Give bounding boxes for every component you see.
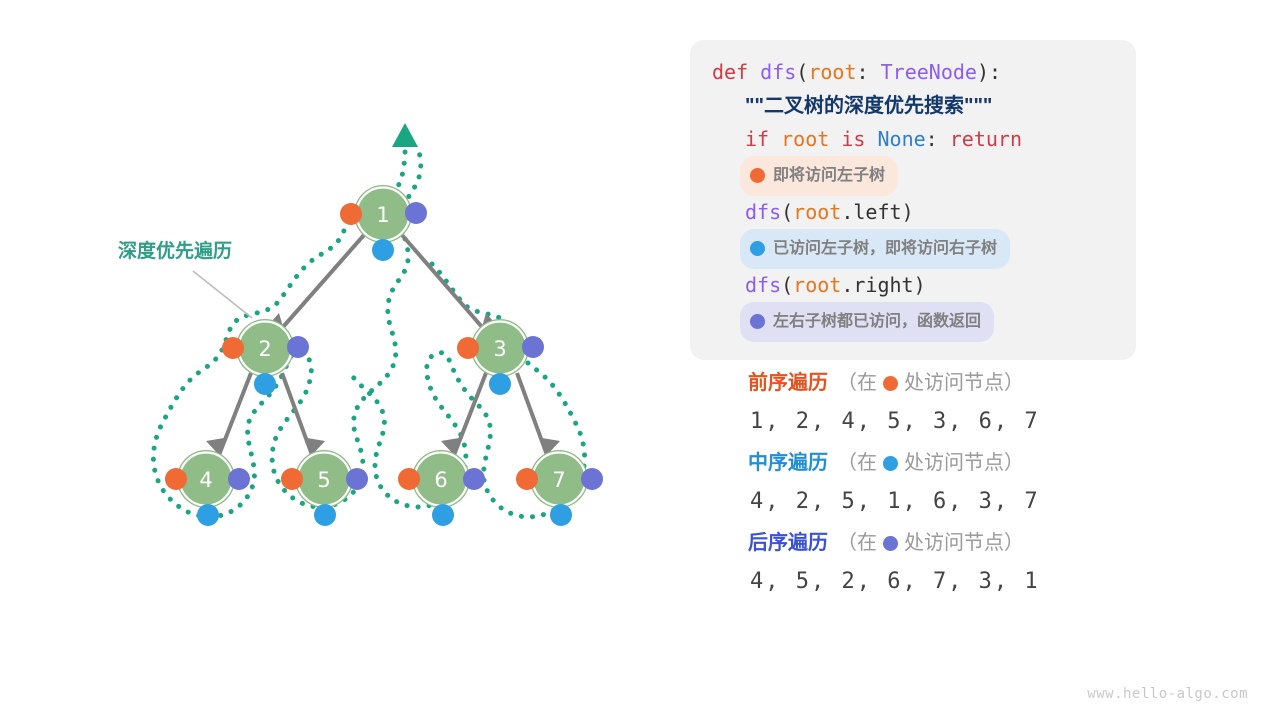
call-left-param: root: [793, 200, 841, 224]
param-root: root: [808, 60, 856, 84]
tree-node-7[interactable]: 7: [516, 450, 603, 526]
edge-1-3: [402, 235, 482, 327]
node-5-preorder-dot: [281, 468, 303, 490]
edge-3-7: [517, 373, 547, 455]
call-left-fn: dfs: [745, 200, 781, 224]
node-3-label: 3: [493, 337, 506, 361]
node-4-inorder-dot: [197, 504, 219, 526]
inorder-note: （在 处访问节点）: [837, 448, 1024, 478]
node-5-inorder-dot: [314, 504, 336, 526]
docstring-text: ""二叉树的深度优先搜索""": [745, 95, 992, 117]
dfs-annotation-label: 深度优先遍历: [118, 239, 232, 262]
inorder-note-open: （在: [837, 448, 877, 478]
node-6-postorder-dot: [463, 468, 485, 490]
guard-colon: :: [926, 127, 950, 151]
keyword-def: def: [712, 60, 748, 84]
tree-node-2[interactable]: 2: [222, 319, 309, 395]
postorder-dot-icon: [750, 314, 765, 329]
preorder-pill-label: 即将访问左子树: [773, 159, 885, 192]
preorder-dot-icon: [750, 168, 765, 183]
tree-node-3[interactable]: 3: [457, 319, 544, 395]
call-right-param: root: [793, 273, 841, 297]
guard-param-root: root: [781, 127, 829, 151]
node-5-label: 5: [317, 468, 330, 492]
preorder-marker-icon: [883, 376, 898, 391]
annotation-leader-line: [193, 271, 252, 318]
result-block-preorder: 前序遍历 （在 处访问节点） 1, 2, 4, 5, 3, 6, 7: [748, 368, 1248, 434]
code-line-call-left: dfs(root.left): [690, 196, 1136, 229]
inorder-sequence: 4, 2, 5, 1, 6, 3, 7: [750, 489, 1248, 514]
preorder-note-open: （在: [837, 368, 877, 398]
node-7-postorder-dot: [581, 468, 603, 490]
pill-row-preorder: 即将访问左子树: [690, 156, 1136, 196]
keyword-if: if: [745, 127, 769, 151]
preorder-sequence: 1, 2, 4, 5, 3, 6, 7: [750, 409, 1248, 434]
call-right-attr: .right: [841, 273, 913, 297]
right-panel: def dfs(root: TreeNode): ""二叉树的深度优先搜索"""…: [690, 0, 1250, 720]
tree-node-6[interactable]: 6: [398, 450, 485, 526]
function-name: dfs: [760, 60, 796, 84]
edge-3-6: [454, 373, 486, 455]
node-3-inorder-dot: [489, 373, 511, 395]
tree-node-4[interactable]: 4: [165, 450, 250, 526]
node-7-inorder-dot: [550, 504, 572, 526]
node-5-postorder-dot: [346, 468, 368, 490]
call-right-close: ): [914, 273, 926, 297]
postorder-note: （在 处访问节点）: [837, 528, 1024, 558]
annotation-colon: :: [857, 60, 881, 84]
postorder-sequence: 4, 5, 2, 6, 7, 3, 1: [750, 569, 1248, 594]
edge-2-4: [219, 373, 251, 455]
code-line-signature: def dfs(root: TreeNode):: [690, 56, 1136, 89]
preorder-title: 前序遍历: [748, 368, 828, 398]
node-1-preorder-dot: [340, 203, 362, 225]
inorder-heading: 中序遍历 （在 处访问节点）: [748, 448, 1248, 478]
postorder-pill: 左右子树都已访问，函数返回: [740, 302, 994, 342]
node-2-postorder-dot: [287, 336, 309, 358]
site-watermark: www.hello-algo.com: [1087, 686, 1248, 702]
tree-node-5[interactable]: 5: [281, 450, 368, 526]
code-line-call-right: dfs(root.right): [690, 269, 1136, 302]
code-line-guard: if root is None: return: [690, 123, 1136, 156]
preorder-note: （在 处访问节点）: [837, 368, 1024, 398]
call-right-fn: dfs: [745, 273, 781, 297]
node-3-postorder-dot: [522, 336, 544, 358]
node-2-preorder-dot: [222, 337, 244, 359]
node-6-inorder-dot: [432, 504, 454, 526]
code-line-docstring: ""二叉树的深度优先搜索""": [690, 89, 1136, 123]
postorder-note-close: 处访问节点）: [904, 528, 1024, 558]
node-4-preorder-dot: [165, 468, 187, 490]
inorder-dot-icon: [750, 241, 765, 256]
keyword-return: return: [950, 127, 1022, 151]
type-treenode: TreeNode: [881, 60, 977, 84]
node-1-inorder-dot: [372, 239, 394, 261]
tree-svg: 1 2 3 4: [0, 0, 660, 720]
result-block-inorder: 中序遍历 （在 处访问节点） 4, 2, 5, 1, 6, 3, 7: [748, 448, 1248, 514]
inorder-title: 中序遍历: [748, 448, 828, 478]
preorder-heading: 前序遍历 （在 处访问节点）: [748, 368, 1248, 398]
preorder-pill: 即将访问左子树: [740, 156, 898, 196]
literal-none: None: [878, 127, 926, 151]
node-6-preorder-dot: [398, 468, 420, 490]
traversal-results: 前序遍历 （在 处访问节点） 1, 2, 4, 5, 3, 6, 7 中序遍历 …: [748, 368, 1248, 608]
node-3-preorder-dot: [457, 337, 479, 359]
node-4-label: 4: [199, 468, 212, 492]
node-6-label: 6: [434, 468, 447, 492]
inorder-pill-label: 已访问左子树，即将访问右子树: [773, 232, 997, 265]
pill-row-postorder: 左右子树都已访问，函数返回: [690, 302, 1136, 342]
pill-row-inorder: 已访问左子树，即将访问右子树: [690, 229, 1136, 269]
node-1-postorder-dot: [405, 202, 427, 224]
result-block-postorder: 后序遍历 （在 处访问节点） 4, 5, 2, 6, 7, 3, 1: [748, 528, 1248, 594]
call-left-open: (: [781, 200, 793, 224]
postorder-pill-label: 左右子树都已访问，函数返回: [773, 305, 981, 338]
edge-1-2: [283, 235, 364, 327]
call-right-open: (: [781, 273, 793, 297]
node-2-inorder-dot: [254, 373, 276, 395]
call-left-attr: .left: [841, 200, 901, 224]
binary-tree-diagram: 1 2 3 4: [0, 0, 660, 720]
postorder-heading: 后序遍历 （在 处访问节点）: [748, 528, 1248, 558]
inorder-pill: 已访问左子树，即将访问右子树: [740, 229, 1010, 269]
node-7-preorder-dot: [516, 468, 538, 490]
node-4-postorder-dot: [228, 468, 250, 490]
postorder-note-open: （在: [837, 528, 877, 558]
inorder-note-close: 处访问节点）: [904, 448, 1024, 478]
node-1-label: 1: [376, 203, 389, 227]
code-card: def dfs(root: TreeNode): ""二叉树的深度优先搜索"""…: [690, 40, 1136, 360]
edge-2-5: [282, 373, 312, 455]
dfs-entry-arrow-icon: [392, 123, 418, 147]
call-left-close: ): [902, 200, 914, 224]
postorder-marker-icon: [883, 536, 898, 551]
node-2-label: 2: [258, 337, 271, 361]
preorder-note-close: 处访问节点）: [904, 368, 1024, 398]
node-7-label: 7: [552, 468, 565, 492]
keyword-is: is: [841, 127, 865, 151]
inorder-marker-icon: [883, 456, 898, 471]
signature-close: ):: [977, 60, 1001, 84]
postorder-title: 后序遍历: [748, 528, 828, 558]
open-paren: (: [796, 60, 808, 84]
